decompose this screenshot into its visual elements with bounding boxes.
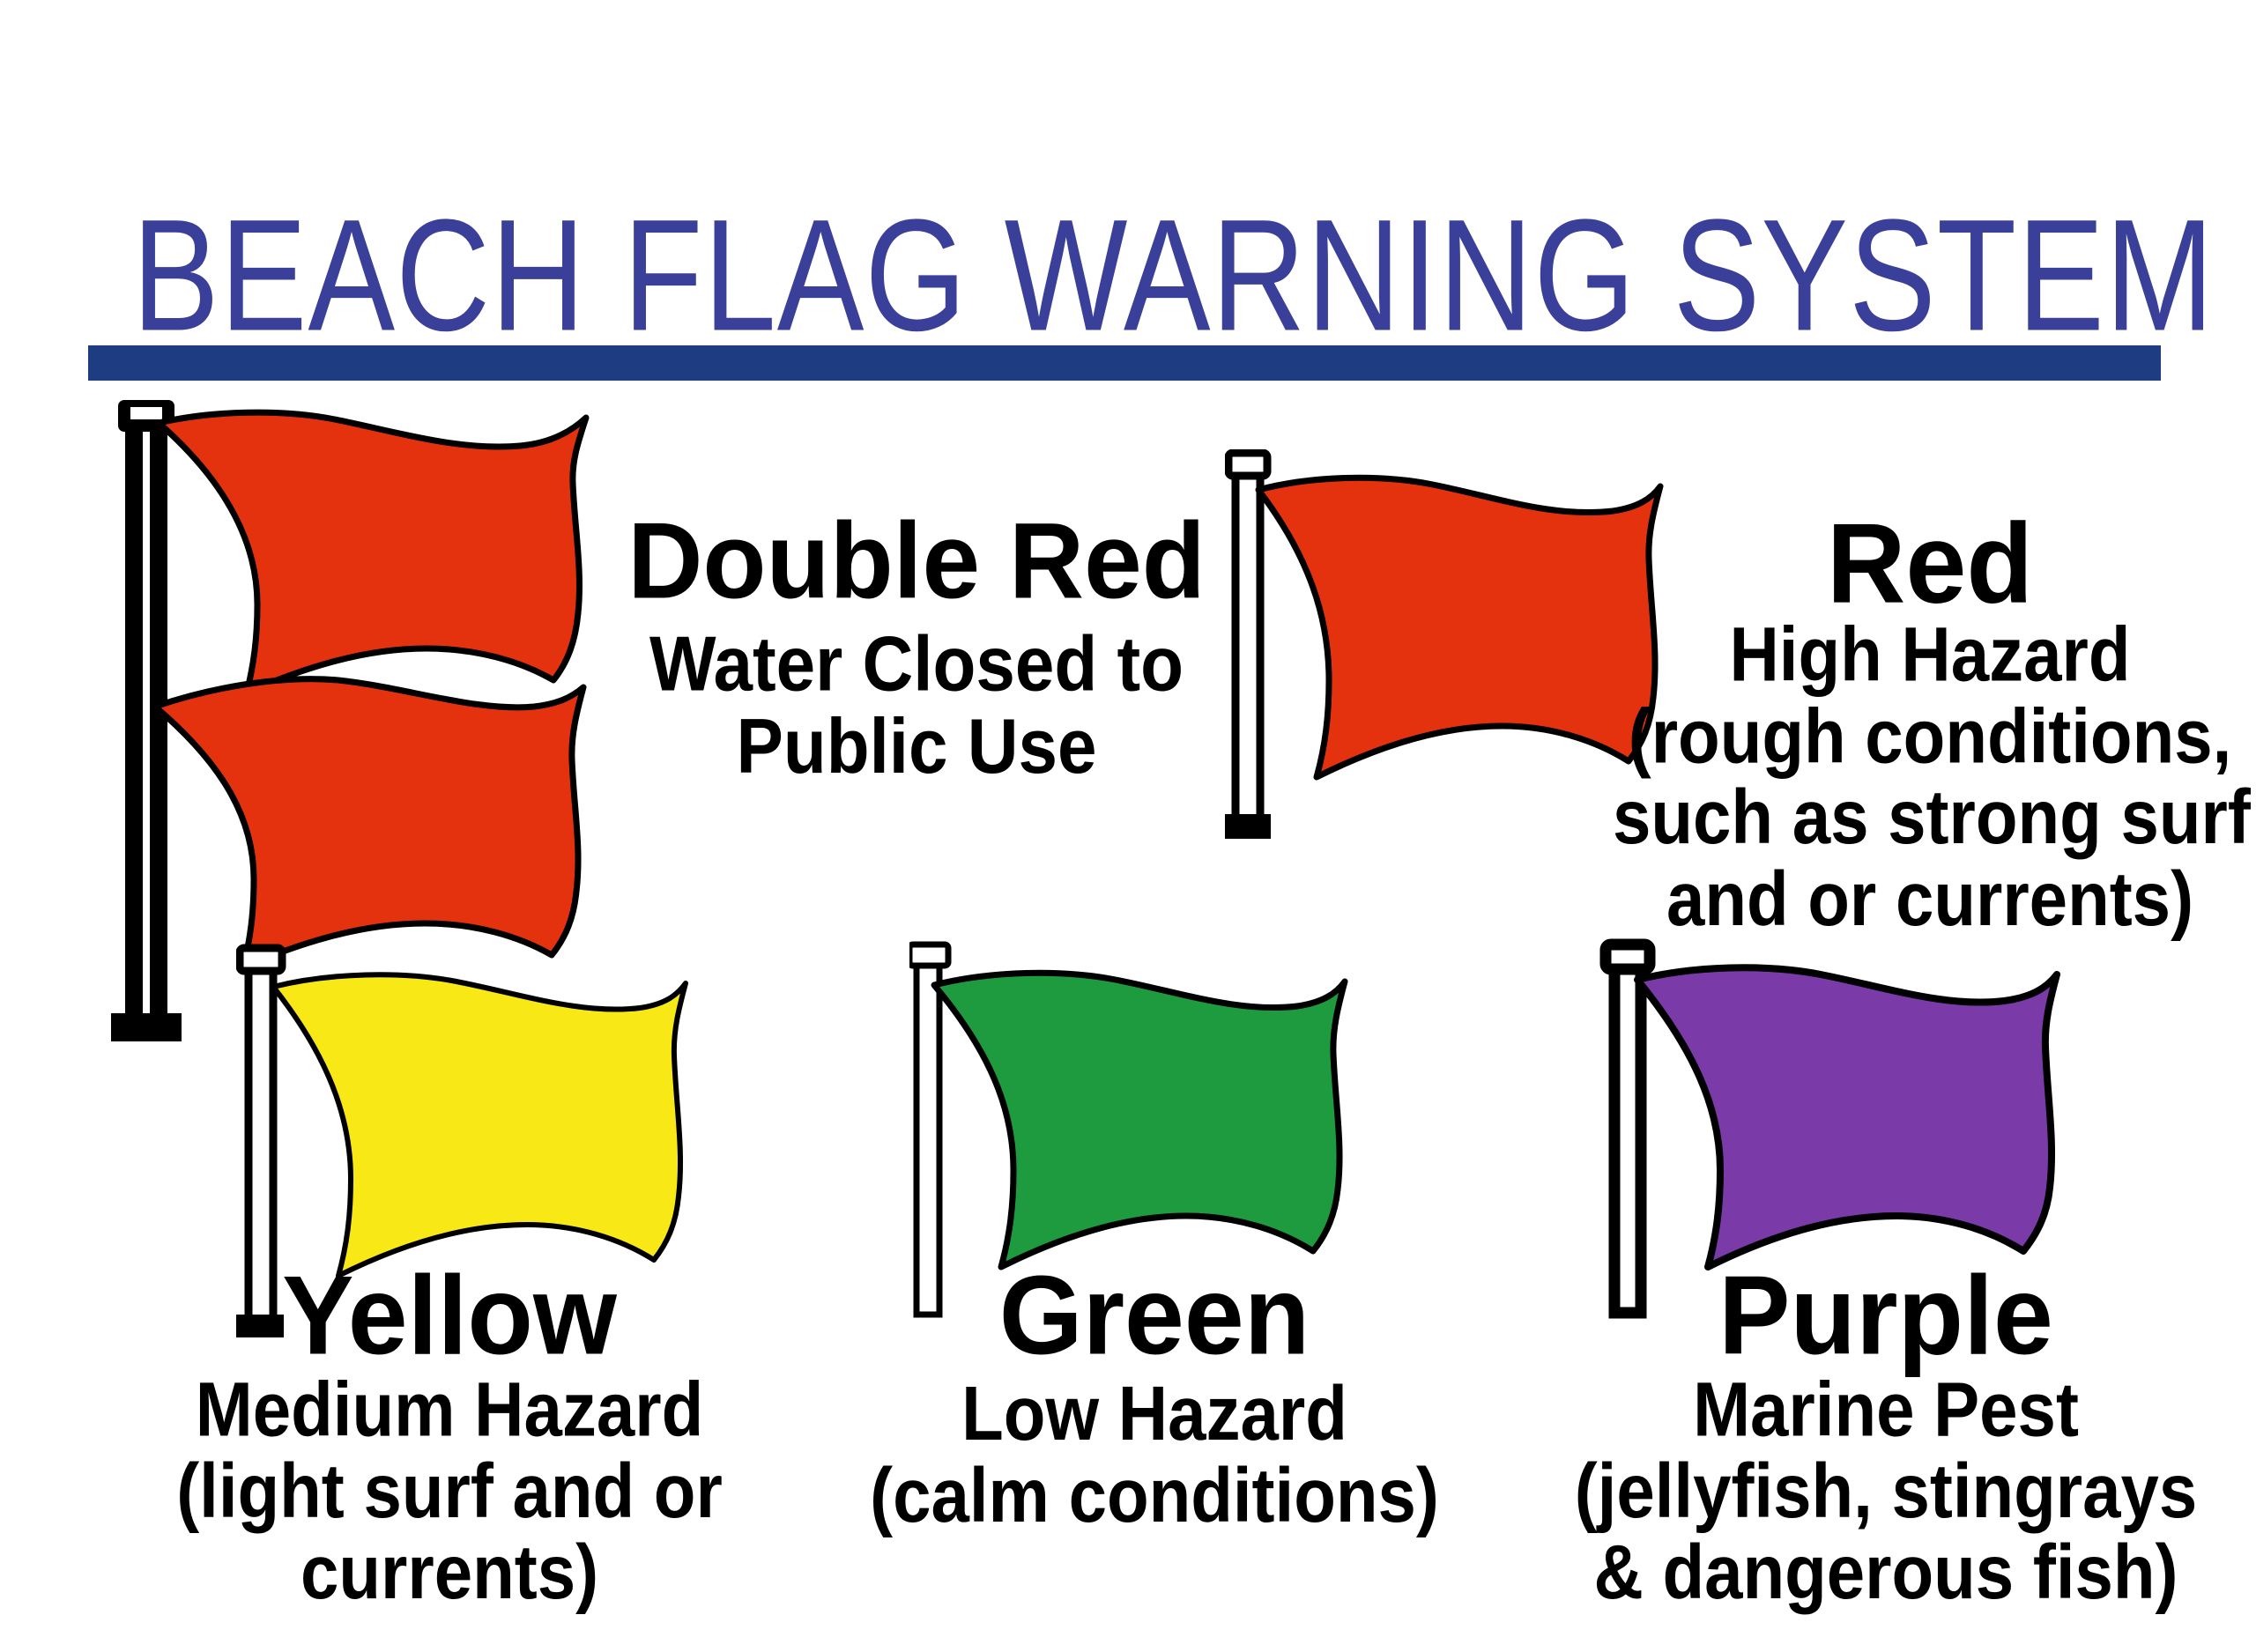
flagpole-white-outlined-thick xyxy=(1606,945,1650,1313)
caption-red: Red High Hazard (rough conditions, such … xyxy=(1613,509,2247,922)
green-banner xyxy=(934,973,1345,1267)
description-line: (light surf and or xyxy=(123,1450,775,1532)
description-line: Marine Pest xyxy=(1569,1368,2203,1450)
description-line: & dangerous fish) xyxy=(1569,1531,2203,1613)
description-line: such as strong surf xyxy=(1613,776,2247,858)
caption-green: Green Low Hazard (calm conditions) xyxy=(846,1262,1463,1527)
caption-double-red: Double Red Water Closed to Public Use xyxy=(608,509,1225,781)
flag-name-double-red: Double Red xyxy=(608,507,1225,616)
description-line: Water Closed to xyxy=(608,624,1225,706)
flag-red xyxy=(1225,449,1666,855)
flag-name-purple: Purple xyxy=(1569,1260,2203,1372)
description-line: (jellyfish, stingrays xyxy=(1569,1450,2203,1532)
description-line: High Hazard xyxy=(1613,613,2247,695)
poster-header: BEACH FLAG WARNING SYSTEM xyxy=(0,196,2256,398)
flag-description-red: High Hazard (rough conditions, such as s… xyxy=(1613,613,2247,939)
description-line: Low Hazard xyxy=(846,1373,1463,1455)
flag-name-green: Green xyxy=(846,1260,1463,1372)
description-line: (rough conditions, xyxy=(1613,695,2247,777)
page-title: BEACH FLAG WARNING SYSTEM xyxy=(132,196,2177,357)
description-line: and or currents) xyxy=(1613,858,2247,940)
red-flag-graphic xyxy=(1225,449,1666,855)
flag-description-double-red: Water Closed to Public Use xyxy=(608,624,1225,789)
description-line: currents) xyxy=(123,1531,775,1613)
description-line: Medium Hazard xyxy=(123,1368,775,1450)
flagpole-white-outlined xyxy=(1225,453,1271,839)
flag-description-yellow: Medium Hazard (light surf and or current… xyxy=(123,1368,775,1613)
caption-purple: Purple Marine Pest (jellyfish, stingrays… xyxy=(1569,1262,2203,1600)
double-red-banner-upper xyxy=(159,412,586,693)
description-line: Public Use xyxy=(608,706,1225,788)
title-underline-bar xyxy=(88,345,2161,381)
yellow-banner xyxy=(273,974,686,1276)
red-banner xyxy=(1258,478,1660,777)
beach-flag-warning-poster: BEACH FLAG WARNING SYSTEM Double Red Wat… xyxy=(0,0,2256,1652)
flag-name-yellow: Yellow xyxy=(123,1260,775,1372)
description-line: (calm conditions) xyxy=(846,1455,1463,1537)
flag-description-purple: Marine Pest (jellyfish, stingrays & dang… xyxy=(1569,1368,2203,1613)
double-red-banner-lower xyxy=(155,679,583,967)
purple-banner xyxy=(1637,967,2057,1267)
flag-description-green: Low Hazard (calm conditions) xyxy=(846,1373,1463,1536)
flag-name-red: Red xyxy=(1613,507,2247,621)
caption-yellow: Yellow Medium Hazard (light surf and or … xyxy=(123,1262,775,1600)
